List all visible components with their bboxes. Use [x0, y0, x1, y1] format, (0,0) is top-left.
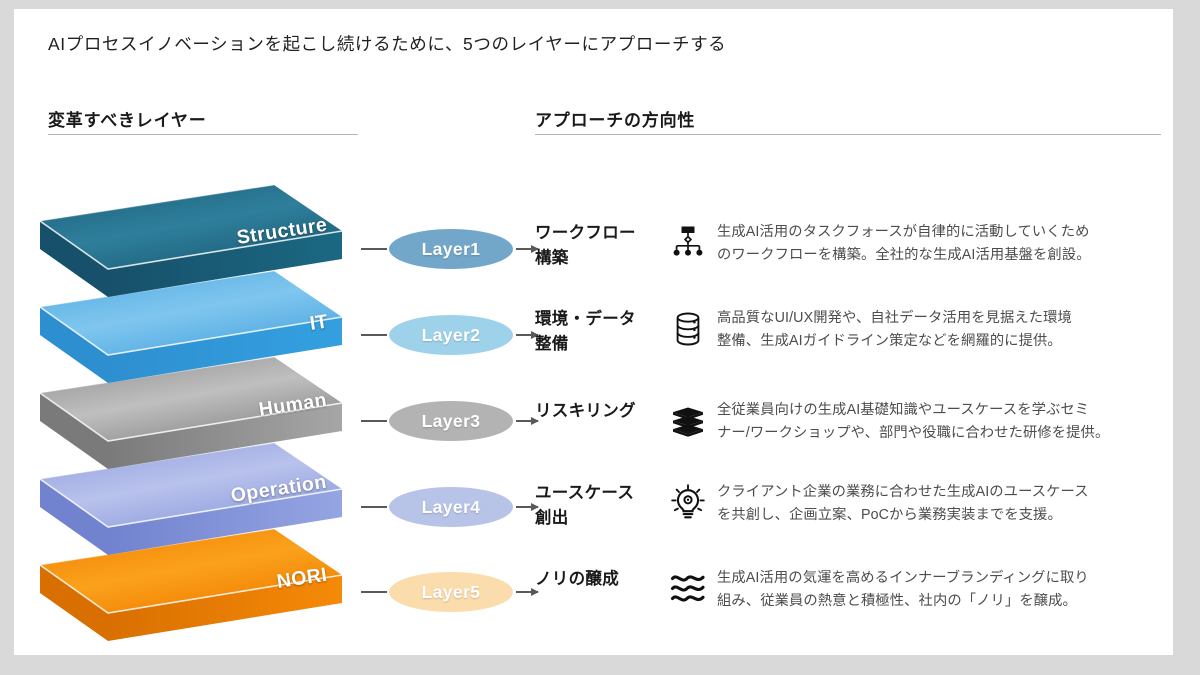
layer-pill-layer5[interactable]: Layer5: [389, 572, 513, 612]
approach-row-layer5: ノリの醸成生成AI活用の気運を高めるインナーブランディングに取り組み、従業員の熱…: [535, 567, 1175, 613]
approach-description-line: 高品質なUI/UX開発や、自社データ活用を見据えた環境: [717, 307, 1175, 330]
layer-block-structure[interactable]: Structure: [36, 183, 346, 311]
approach-row-layer3: リスキリング全従業員向けの生成AI基礎知識やユースケースを学ぶセミナー/ワークシ…: [535, 399, 1175, 445]
column-heading-approach-label: アプローチの方向性: [535, 111, 695, 130]
column-heading-approach-rule: [535, 134, 1161, 135]
approach-title-line: ノリの醸成: [535, 567, 659, 592]
column-heading-layers-label: 変革すべきレイヤー: [48, 111, 207, 130]
approach-title-line: 構築: [535, 246, 659, 271]
layer-connector-layer4: Layer4: [361, 487, 546, 527]
column-heading-layers-rule: [48, 134, 358, 135]
approach-title: ワークフロー構築: [535, 221, 659, 271]
layer-connector-layer1: Layer1: [361, 229, 546, 269]
approach-title-line: ユースケース: [535, 481, 659, 506]
column-heading-layers: 変革すべきレイヤー: [48, 106, 207, 131]
waves-icon: [659, 567, 717, 609]
layer-connector-layer5: Layer5: [361, 572, 546, 612]
connector-line: [361, 591, 387, 593]
connector-line: [361, 248, 387, 250]
approach-description-line: ナー/ワークショップや、部門や役職に合わせた研修を提供。: [717, 422, 1175, 445]
layer-pill-layer3[interactable]: Layer3: [389, 401, 513, 441]
connector-line: [361, 506, 387, 508]
approach-description-line: 整備、生成AIガイドライン策定などを網羅的に提供。: [717, 330, 1175, 353]
approach-description: 生成AI活用の気運を高めるインナーブランディングに取り組み、従業員の熱意と積極性…: [717, 567, 1175, 613]
layer-stack-diagram: StructureITHumanOperationNORI: [36, 169, 366, 639]
approach-title-line: 創出: [535, 506, 659, 531]
layer-pill-layer1[interactable]: Layer1: [389, 229, 513, 269]
approach-title-line: 整備: [535, 332, 659, 357]
approach-description-line: 組み、従業員の熱意と積極性、社内の「ノリ」を醸成。: [717, 590, 1175, 613]
stacked-books-icon: [659, 399, 717, 441]
approach-description-line: 全従業員向けの生成AI基礎知識やユースケースを学ぶセミ: [717, 399, 1175, 422]
approach-description: 高品質なUI/UX開発や、自社データ活用を見据えた環境整備、生成AIガイドライン…: [717, 307, 1175, 353]
approach-title: ノリの醸成: [535, 567, 659, 592]
approach-row-layer4: ユースケース創出クライアント企業の業務に合わせた生成AIのユースケースを共創し、…: [535, 481, 1175, 531]
slide-canvas: AIプロセスイノベーションを起こし続けるために、5つのレイヤーにアプローチする …: [14, 9, 1173, 655]
approach-description: クライアント企業の業務に合わせた生成AIのユースケースを共創し、企画立案、PoC…: [717, 481, 1175, 527]
approach-title: リスキリング: [535, 399, 659, 424]
approach-title-line: リスキリング: [535, 399, 659, 424]
approach-row-layer1: ワークフロー構築生成AI活用のタスクフォースが自律的に活動していくためのワークフ…: [535, 221, 1175, 271]
column-heading-approach: アプローチの方向性: [535, 106, 695, 131]
org-chart-icon: [659, 221, 717, 263]
page-title: AIプロセスイノベーションを起こし続けるために、5つのレイヤーにアプローチする: [48, 31, 726, 56]
layer-connector-layer2: Layer2: [361, 315, 546, 355]
approach-description-line: のワークフローを構築。全社的な生成AI活用基盤を創設。: [717, 244, 1175, 267]
lightbulb-icon: [659, 481, 717, 523]
approach-title: ユースケース創出: [535, 481, 659, 531]
approach-description-line: 生成AI活用の気運を高めるインナーブランディングに取り: [717, 567, 1175, 590]
approach-description: 生成AI活用のタスクフォースが自律的に活動していくためのワークフローを構築。全社…: [717, 221, 1175, 267]
layer-pill-layer2[interactable]: Layer2: [389, 315, 513, 355]
connector-line: [361, 334, 387, 336]
approach-row-layer2: 環境・データ整備高品質なUI/UX開発や、自社データ活用を見据えた環境整備、生成…: [535, 307, 1175, 357]
database-icon: [659, 307, 717, 349]
connector-line: [361, 420, 387, 422]
layer-connector-layer3: Layer3: [361, 401, 546, 441]
approach-title: 環境・データ整備: [535, 307, 659, 357]
approach-title-line: ワークフロー: [535, 221, 659, 246]
approach-description-line: を共創し、企画立案、PoCから業務実装までを支援。: [717, 504, 1175, 527]
approach-description-line: 生成AI活用のタスクフォースが自律的に活動していくため: [717, 221, 1175, 244]
approach-title-line: 環境・データ: [535, 307, 659, 332]
approach-description-line: クライアント企業の業務に合わせた生成AIのユースケース: [717, 481, 1175, 504]
layer-pill-layer4[interactable]: Layer4: [389, 487, 513, 527]
approach-description: 全従業員向けの生成AI基礎知識やユースケースを学ぶセミナー/ワークショップや、部…: [717, 399, 1175, 445]
